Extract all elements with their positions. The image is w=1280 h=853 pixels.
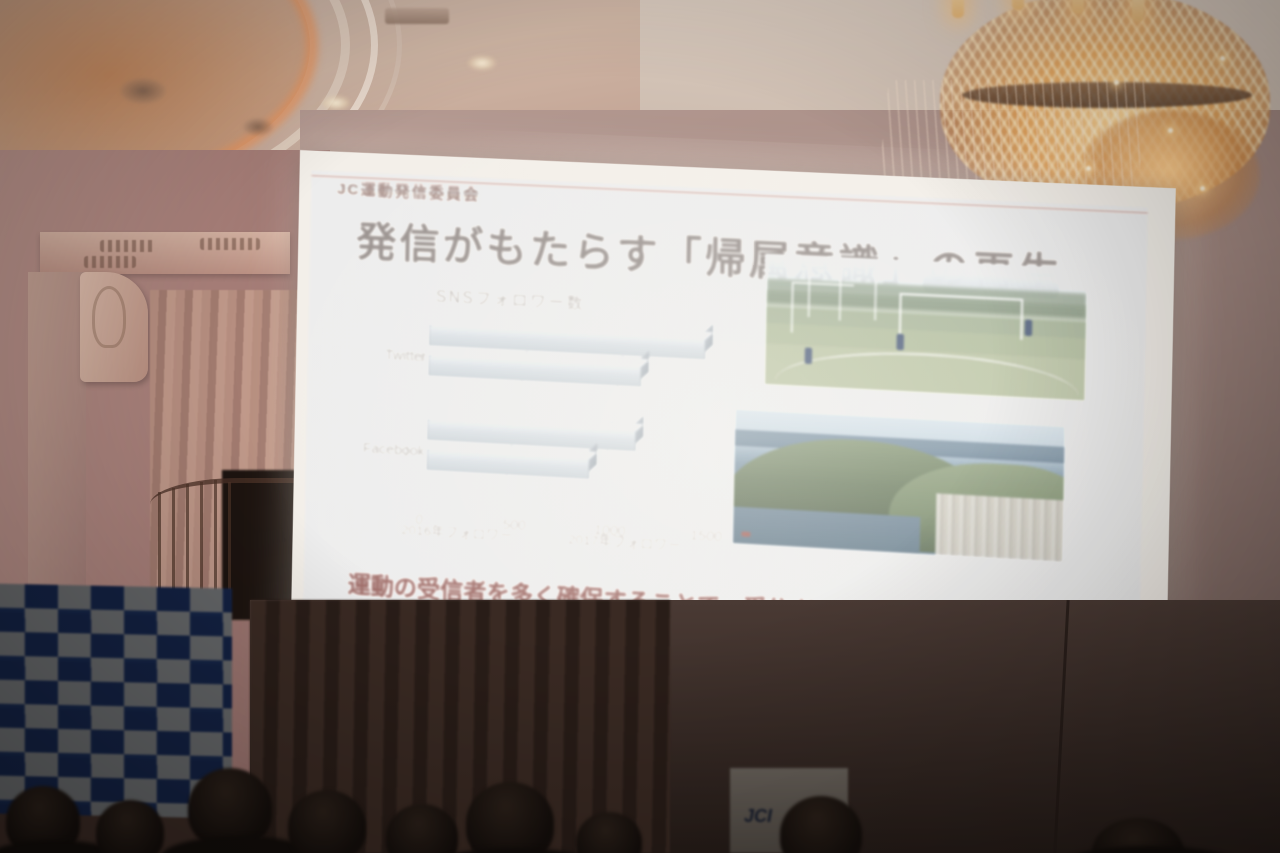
soccer-goal-secondary: [791, 282, 854, 336]
chart-category-label: Facebook: [363, 440, 425, 459]
boat-icon: [741, 531, 750, 537]
pitch-marking: [775, 346, 1079, 396]
ceiling-vent: [385, 8, 449, 24]
crystal-sparkle-icon: [1168, 128, 1173, 133]
entablature-molding: [40, 232, 290, 274]
legend-item-2016: 2016年フォロワー: [383, 517, 514, 545]
chart-plot-area: Twitter Facebook 0 500 1000 1500: [426, 315, 735, 518]
legend-label: 2017年フォロワー: [568, 532, 682, 554]
ceiling-rosette-icon: [243, 118, 273, 136]
soccer-goal: [899, 293, 1023, 340]
molding-ornament: [100, 240, 156, 252]
chart-xtick: 1500: [689, 526, 723, 544]
conference-room-scene: JC運動発信委員会 発信がもたらす「帰属意識」の再生 SNSフォロワー数 Twi…: [0, 0, 1280, 853]
chandelier-candle-icon: [1072, 0, 1084, 14]
player-figure: [805, 347, 813, 364]
stair-balusters: [150, 470, 290, 600]
molding-ornament: [200, 238, 260, 250]
chart-category-label: Twitter: [385, 346, 427, 364]
chandelier-candle-icon: [952, 0, 964, 18]
coastal-town-photo: [731, 407, 1067, 564]
player-figure: [1025, 319, 1033, 336]
ceiling-rosette-icon: [120, 78, 166, 104]
sns-follower-chart: SNSフォロワー数 Twitter Facebook 0 500: [338, 278, 770, 583]
jci-sign-label: JCI: [744, 806, 772, 827]
corbel-scroll-detail: [92, 286, 126, 348]
soccer-field-photo: [763, 254, 1090, 403]
downlight-icon: [468, 56, 496, 70]
chart-legend: 2016年フォロワー 2017年フォロワー: [383, 517, 682, 554]
crystal-sparkle-icon: [1086, 166, 1091, 171]
downlight-icon: [322, 96, 350, 110]
legend-item-2017: 2017年フォロワー: [549, 527, 681, 555]
legend-label: 2016年フォロワー: [401, 522, 513, 544]
crystal-sparkle-icon: [1114, 80, 1119, 85]
crystal-sparkle-icon: [1220, 56, 1225, 61]
pilaster: [28, 272, 86, 602]
audience-head: [288, 790, 366, 853]
molding-ornament: [84, 256, 136, 268]
crystal-sparkle-icon: [1200, 186, 1205, 191]
town-buildings: [935, 493, 1067, 562]
player-figure: [896, 334, 904, 351]
chandelier-candle-icon: [1012, 0, 1024, 10]
legend-swatch: [550, 535, 563, 545]
chandelier-candle-icon: [1132, 0, 1144, 22]
legend-swatch: [383, 525, 396, 535]
